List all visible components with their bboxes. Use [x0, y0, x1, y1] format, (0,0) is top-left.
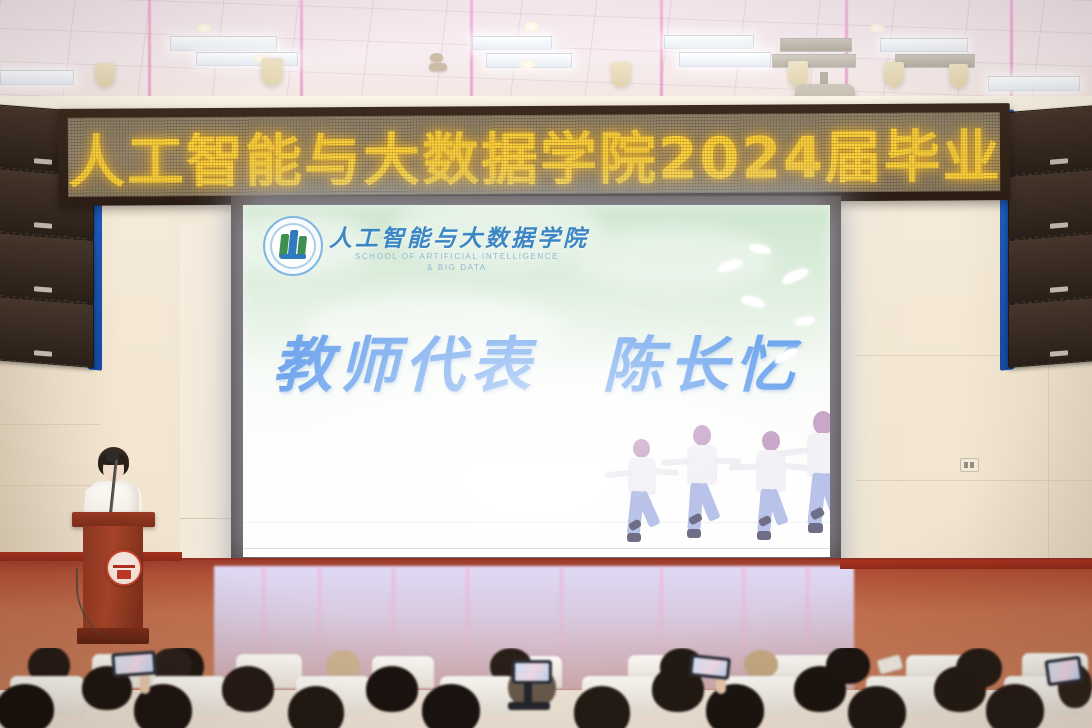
door-seam [180, 518, 237, 519]
audience-phone[interactable] [689, 654, 731, 680]
line-array-cabinet [0, 232, 94, 304]
ceiling-pink-strip [470, 0, 473, 104]
ceiling-light-panel [170, 36, 277, 51]
projection-screen: 人工智能与大数据学院 SCHOOL OF ARTIFICIAL INTELLIG… [243, 205, 830, 557]
slide-school-name-cn: 人工智能与大数据学院 [329, 219, 589, 253]
ceiling-light-panel [472, 36, 552, 50]
ceiling-light-panel [0, 70, 74, 85]
school-logo-icon [263, 216, 323, 276]
pendant-light [261, 58, 283, 86]
audience-phone[interactable] [1044, 656, 1083, 687]
auditorium-photo: 人工智能与大数据学院2024届毕业典礼 人工智能与大数据学院 SCHOOL OF… [0, 0, 1092, 728]
podium-top [72, 512, 155, 527]
ceiling-pink-strip [148, 0, 151, 104]
smoke-detector [430, 53, 443, 62]
ceiling-light-panel [988, 76, 1080, 91]
ceiling-downlight [196, 24, 212, 33]
audience-rows [0, 648, 1092, 728]
school-logo-emblem [278, 230, 308, 262]
wall-panel-line [856, 480, 1092, 481]
slide-school-name-en: SCHOOL OF ARTIFICIAL INTELLIGENCE & BIG … [347, 251, 567, 273]
slide-cloud [573, 227, 773, 291]
audience-phone[interactable] [876, 654, 903, 675]
audience-head [986, 684, 1044, 728]
audience-phone[interactable] [111, 650, 157, 677]
line-array-cabinet [0, 296, 94, 368]
wall-baseboard [840, 560, 1092, 569]
line-array-cabinet [1008, 168, 1092, 240]
slide-school-name-en-line2: & BIG DATA [347, 262, 567, 273]
led-banner-panel: 人工智能与大数据学院2024届毕业典礼 [68, 112, 1000, 197]
slide-student-figure [793, 411, 830, 557]
ceiling-light-panel [880, 38, 968, 52]
audience-head [422, 684, 480, 728]
pendant-light [611, 62, 631, 87]
audience-head [744, 650, 778, 678]
pendant-light [949, 64, 968, 88]
ceiling-vent-panel [780, 38, 852, 52]
slide-student-figure [673, 425, 733, 557]
ceiling-downlight [524, 22, 540, 31]
tripod-stem [524, 682, 532, 704]
ceiling [0, 0, 1092, 104]
line-array-cabinet [1008, 296, 1092, 368]
audience-head [222, 666, 274, 712]
led-banner-text: 人工智能与大数据学院2024届毕业典礼 [68, 112, 1000, 197]
ceiling-light-panel [679, 52, 771, 67]
slide-student-figure [615, 435, 673, 557]
audience-head [706, 684, 764, 728]
audience-phone-on-tripod[interactable] [512, 660, 552, 684]
audience-area [0, 648, 1092, 728]
line-array-cabinet [1008, 232, 1092, 304]
ceiling-light-panel [664, 35, 754, 49]
ceiling-pink-strip [660, 0, 663, 104]
slide-headline: 教师代表 陈长忆 [243, 317, 830, 404]
audience-head [934, 666, 986, 712]
slide-photo-floorline [243, 522, 830, 523]
pendant-light [95, 63, 115, 87]
ceiling-downlight [869, 24, 885, 33]
line-array-cabinet [1008, 104, 1092, 176]
tripod-base [508, 702, 550, 710]
podium [72, 512, 155, 644]
led-banner: 人工智能与大数据学院2024届毕业典礼 [58, 103, 1011, 206]
smoke-detector-base [429, 63, 447, 71]
ceiling-tile-grid [0, 0, 1092, 104]
power-outlet [960, 458, 979, 472]
audience-head [366, 666, 418, 712]
ceiling-pink-strip [300, 0, 303, 104]
wall-panel-line [1048, 355, 1049, 580]
slide-photo-floorline [243, 548, 830, 549]
slide-school-name-en-line1: SCHOOL OF ARTIFICIAL INTELLIGENCE [347, 251, 567, 262]
ceiling-downlight [519, 60, 535, 69]
audience-head [794, 666, 846, 712]
pendant-light [884, 62, 904, 87]
wall-panel-line [0, 424, 100, 425]
ceiling-vent-panel [772, 54, 856, 68]
